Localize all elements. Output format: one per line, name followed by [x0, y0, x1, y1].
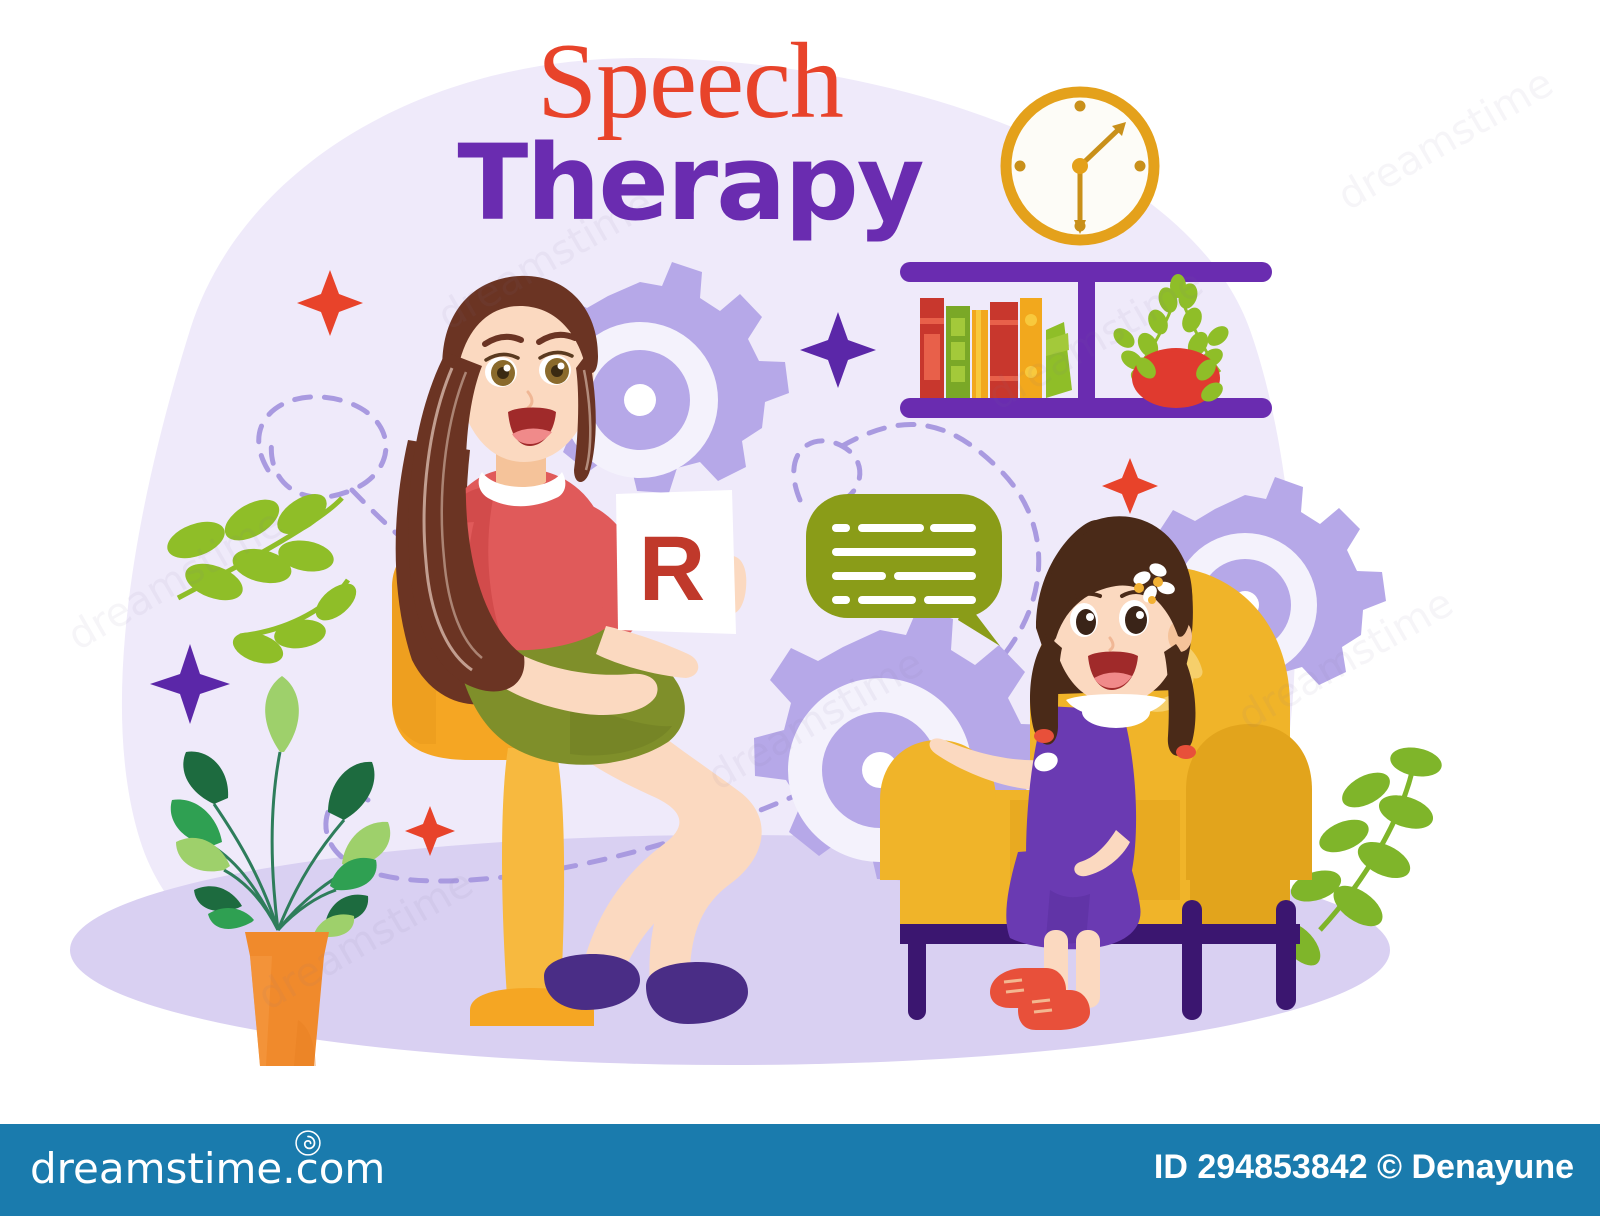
armchair-leg — [1182, 900, 1202, 1020]
letter-R-flashcard: R — [616, 490, 736, 634]
flashcard-letter: R — [639, 518, 705, 620]
page-title: Speech Therapy — [430, 28, 950, 248]
wall-clock — [1006, 92, 1154, 240]
title-line-therapy: Therapy — [430, 130, 950, 236]
image-credit: ID 294853842 © Denayune — [1154, 1148, 1574, 1187]
illustration-canvas: R dreamstimedreamstimedreamstimedreamsti… — [0, 0, 1600, 1216]
dreamstime-logo[interactable]: dreamstime.com — [30, 1144, 385, 1193]
armchair-leg — [1276, 900, 1296, 1010]
stock-footer-bar: dreamstime.com ID 294853842 © Denayune — [0, 1124, 1600, 1216]
child-shoe — [1018, 990, 1090, 1030]
dreamstime-logo-text: dreamstime — [30, 1144, 282, 1193]
title-line-speech: Speech — [430, 28, 950, 136]
spiral-icon — [295, 1130, 321, 1156]
